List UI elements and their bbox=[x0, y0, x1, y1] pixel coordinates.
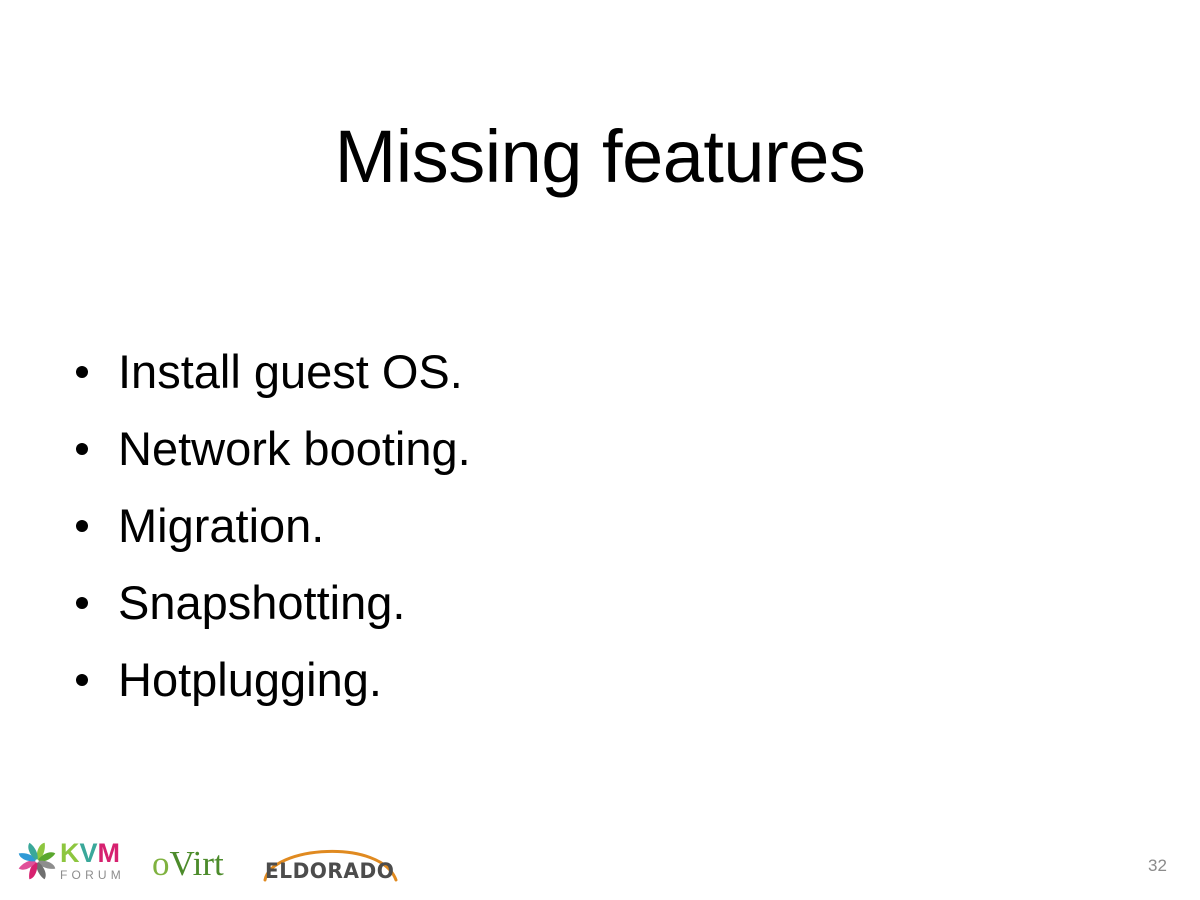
kvm-wordmark: KVM FORUM bbox=[60, 839, 142, 885]
list-item-label: Network booting. bbox=[118, 410, 471, 487]
ovirt-prefix: o bbox=[152, 844, 170, 883]
list-item-label: Migration. bbox=[118, 487, 324, 564]
list-item-label: Install guest OS. bbox=[118, 333, 463, 410]
list-item-label: Hotplugging. bbox=[118, 641, 382, 718]
kvm-pinwheel-icon bbox=[16, 840, 58, 882]
kvm-forum-logo: KVM FORUM bbox=[16, 838, 141, 886]
page-number: 32 bbox=[1148, 856, 1188, 876]
kvm-letter-v: V bbox=[80, 838, 98, 868]
bullet-list: Install guest OS. Network booting. Migra… bbox=[62, 333, 1122, 718]
kvm-letter-k: K bbox=[60, 838, 80, 868]
bullet-dot-icon bbox=[76, 674, 88, 686]
eldorado-wordmark: ELDORADO bbox=[265, 860, 394, 882]
page-title: Missing features bbox=[0, 120, 1200, 194]
bullet-dot-icon bbox=[76, 366, 88, 378]
list-item: Hotplugging. bbox=[62, 641, 1122, 718]
kvm-letters: KVM bbox=[60, 839, 142, 867]
eldorado-logo: ELDORADO bbox=[263, 840, 403, 886]
list-item: Migration. bbox=[62, 487, 1122, 564]
list-item: Network booting. bbox=[62, 410, 1122, 487]
kvm-letter-m: M bbox=[98, 838, 121, 868]
list-item: Snapshotting. bbox=[62, 564, 1122, 641]
bullet-dot-icon bbox=[76, 443, 88, 455]
list-item-label: Snapshotting. bbox=[118, 564, 405, 641]
kvm-forum-subtitle: FORUM bbox=[60, 868, 142, 882]
bullet-dot-icon bbox=[76, 520, 88, 532]
list-item: Install guest OS. bbox=[62, 333, 1122, 410]
ovirt-suffix: Virt bbox=[170, 844, 224, 883]
presentation-slide: Missing features Install guest OS. Netwo… bbox=[0, 0, 1200, 900]
bullet-dot-icon bbox=[76, 597, 88, 609]
ovirt-logo: oVirt bbox=[152, 845, 224, 883]
